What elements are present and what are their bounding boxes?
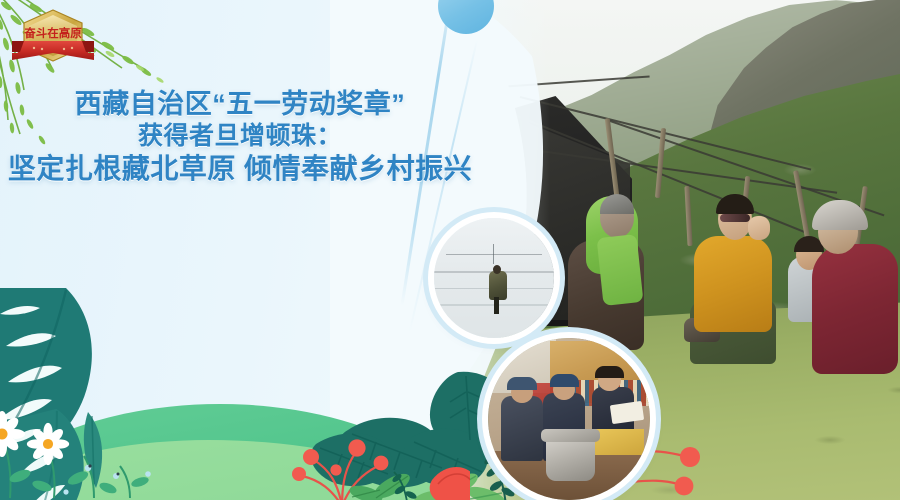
inset-snow-person-body	[489, 271, 507, 300]
inset-snow-pole	[493, 244, 495, 263]
photo-person-green-scarf-drape	[597, 234, 644, 306]
inset-room-person-3-hair	[595, 366, 624, 379]
inset-room-person-1-hat	[507, 377, 536, 390]
title-line-3: 坚定扎根藏北草原 倾情奉献乡村振兴	[0, 152, 480, 187]
title-line-1: 西藏自治区“五一劳动奖章”	[0, 88, 480, 121]
photo-person-yellow-jacket	[694, 236, 772, 332]
photo-person-sunglasses	[720, 214, 750, 222]
photo-person-maroon-robe	[812, 244, 898, 374]
monstera-leaf-decoration	[0, 280, 200, 500]
title-line-2: 获得者旦增顿珠：	[0, 121, 480, 152]
inset-room-stove-lid	[541, 429, 599, 442]
inset-room-person-1-body	[501, 396, 543, 461]
poster-canvas: 奋斗在高原 西藏自治区“五一劳动奖章” 获得者旦增顿珠： 坚定扎根藏北草原 倾情…	[0, 0, 900, 500]
daisy-flower-decoration	[0, 390, 170, 500]
inset-room-yellow-cloth	[595, 429, 644, 455]
page-title: 西藏自治区“五一劳动奖章” 获得者旦增顿珠： 坚定扎根藏北草原 倾情奉献乡村振兴	[0, 88, 480, 187]
inset-room-stove-pot	[546, 435, 595, 480]
inset-photo-snow-walk	[434, 218, 554, 338]
inset-photo-home-visit	[488, 338, 650, 500]
inset-snow-person-legs	[494, 297, 499, 314]
award-badge-icon: 奋斗在高原	[10, 8, 96, 64]
photo-person-clasped-hands	[748, 216, 770, 240]
award-badge-text: 奋斗在高原	[23, 26, 82, 40]
inset-room-person-2-hat	[550, 374, 579, 387]
